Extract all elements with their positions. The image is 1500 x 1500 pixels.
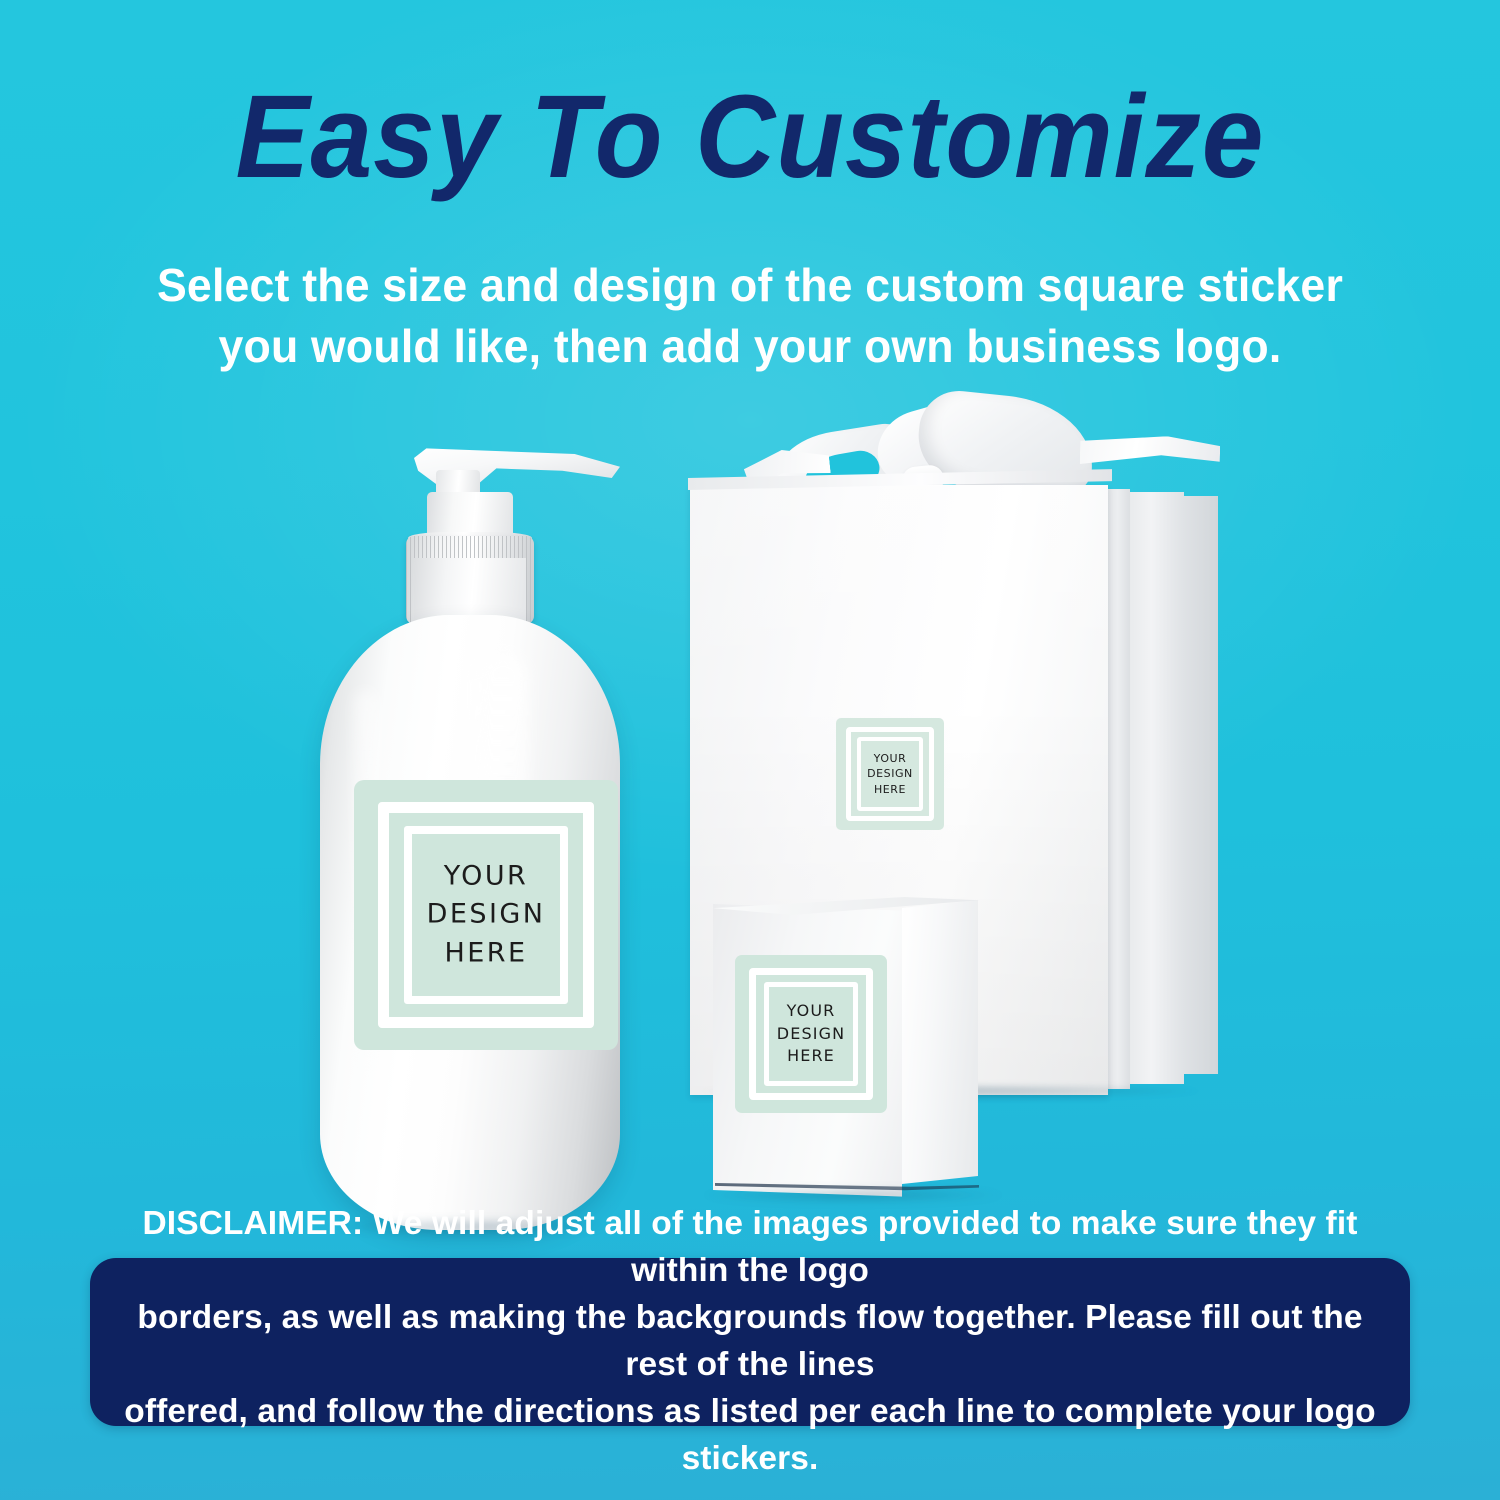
disclaimer-label: DISCLAIMER: xyxy=(143,1205,364,1242)
disclaimer-line-1: DISCLAIMER: We will adjust all of the im… xyxy=(124,1201,1376,1295)
sticker-text-line-1: YOUR xyxy=(836,751,944,766)
disclaimer-line-1-rest: We will adjust all of the images provide… xyxy=(363,1205,1357,1289)
gift-box-side-face xyxy=(1184,496,1218,1074)
sticker-text-line-3: HERE xyxy=(354,934,618,972)
sticker-text-line-2: DESIGN xyxy=(836,766,944,781)
bow-tail-right xyxy=(1080,435,1221,471)
disclaimer-line-3: offered, and follow the directions as li… xyxy=(124,1389,1376,1483)
gift-box-spine-back xyxy=(1130,492,1184,1084)
disclaimer-line-2: borders, as well as making the backgroun… xyxy=(124,1295,1376,1389)
sticker-placeholder-text: YOUR DESIGN HERE xyxy=(836,751,944,797)
sticker-text-line-2: DESIGN xyxy=(354,896,618,934)
sticker-on-gift-box: YOUR DESIGN HERE xyxy=(836,718,944,830)
sticker-placeholder-text: YOUR DESIGN HERE xyxy=(354,858,618,973)
sticker-text-line-1: YOUR xyxy=(354,858,618,896)
small-product-box-mockup: YOUR DESIGN HERE xyxy=(713,895,983,1205)
promo-banner: Easy To Customize Select the size and de… xyxy=(0,0,1500,1500)
sticker-placeholder-text: YOUR DESIGN HERE xyxy=(735,1000,887,1068)
sticker-on-bottle-label: YOUR DESIGN HERE xyxy=(354,780,618,1050)
gift-box-spine-front xyxy=(1108,489,1130,1089)
disclaimer-text: DISCLAIMER: We will adjust all of the im… xyxy=(90,1201,1410,1482)
lotion-bottle-mockup: YOUR DESIGN HERE xyxy=(310,440,630,1230)
sticker-text-line-1: YOUR xyxy=(735,1000,887,1023)
disclaimer-banner: DISCLAIMER: We will adjust all of the im… xyxy=(90,1258,1410,1426)
sticker-text-line-3: HERE xyxy=(836,782,944,797)
sticker-text-line-3: HERE xyxy=(735,1045,887,1068)
small-box-side-face xyxy=(902,900,978,1184)
sticker-text-line-2: DESIGN xyxy=(735,1023,887,1046)
sticker-on-small-box: YOUR DESIGN HERE xyxy=(735,955,887,1113)
